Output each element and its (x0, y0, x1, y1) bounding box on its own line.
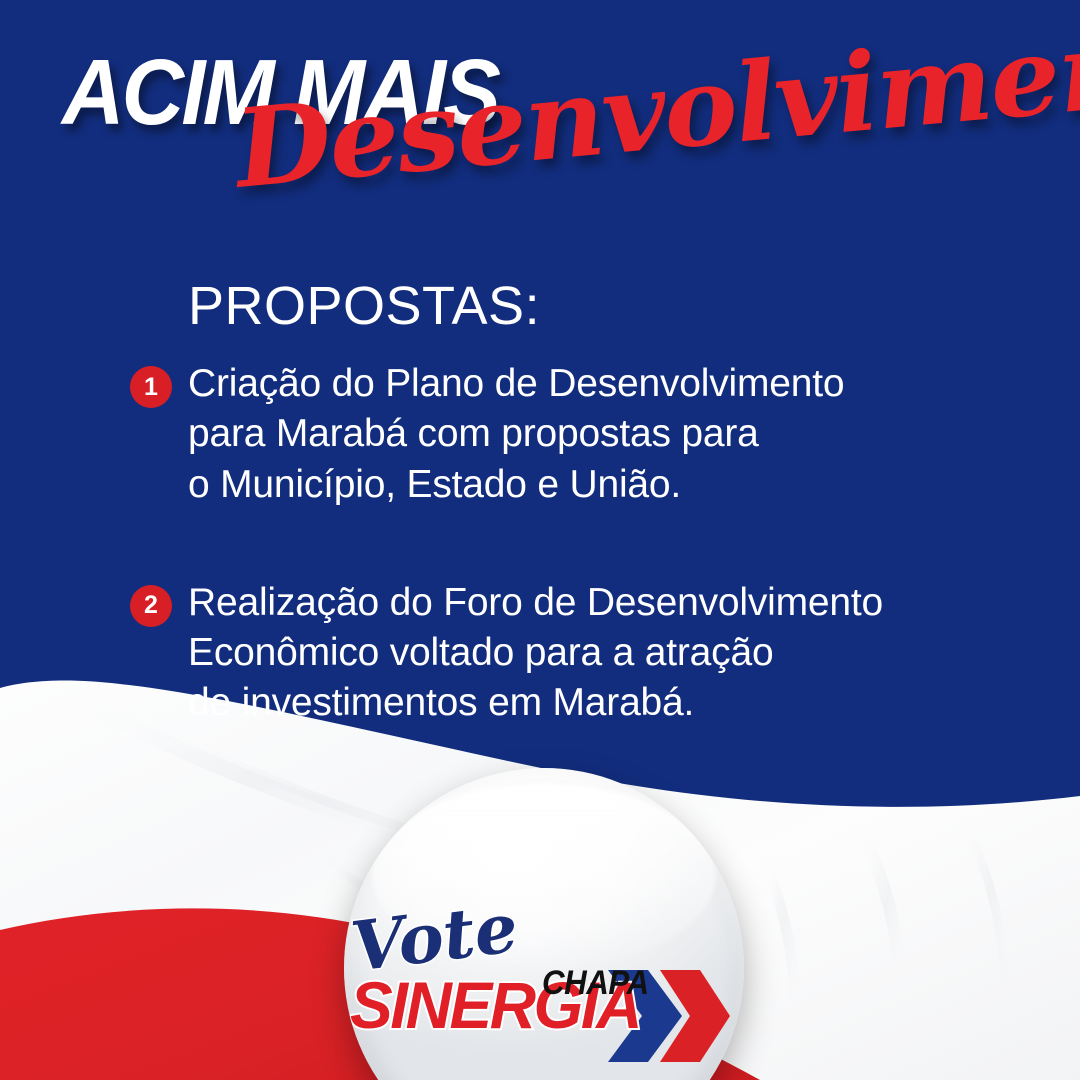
poster-header: ACIM MAIS Desenvolvimento (0, 0, 1080, 230)
title-script: Desenvolvimento (231, 3, 1080, 203)
campaign-poster: ACIM MAIS Desenvolvimento PROPOSTAS: 1 C… (0, 0, 1080, 1080)
proposals-list: 1 Criação do Plano de Desenvolvimento pa… (0, 359, 1080, 729)
proposal-text-1: Criação do Plano de Desenvolvimento para… (188, 362, 844, 506)
chapa-sinergia-logo: Vote SINERGIA CHAPA (344, 920, 744, 1080)
logo-chapa-text: CHAPA (542, 966, 649, 1000)
number-badge-2: 2 (130, 585, 172, 627)
list-item: 2 Realização do Foro de Desenvolvimento … (130, 578, 1080, 729)
proposals-section: PROPOSTAS: 1 Criação do Plano de Desenvo… (0, 275, 1080, 729)
number-badge-1: 1 (130, 366, 172, 408)
proposal-text-2: Realização do Foro de Desenvolvimento Ec… (188, 581, 883, 725)
list-item: 1 Criação do Plano de Desenvolvimento pa… (130, 359, 1080, 510)
proposals-heading: PROPOSTAS: (188, 275, 1080, 337)
